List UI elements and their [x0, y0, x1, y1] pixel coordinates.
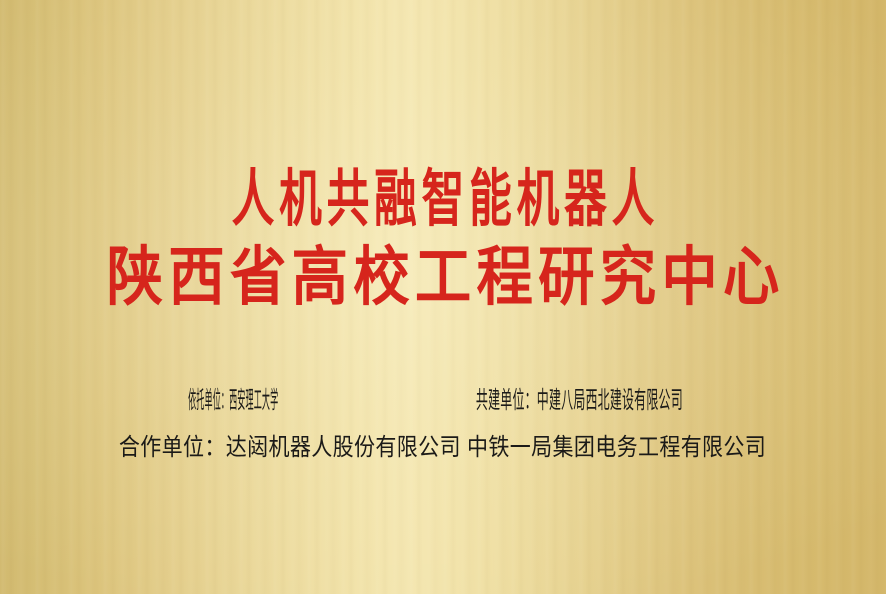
affiliation-list: 依托单位：西安理工大学 共建单位：中建八局西北建设有限公司 合作单位：达闼机器人…: [0, 366, 886, 460]
plaque-content: 人机共融智能机器人 陕西省高校工程研究中心 依托单位：西安理工大学 共建单位：中…: [0, 0, 886, 594]
affiliation-host-institution: 依托单位：西安理工大学: [188, 389, 278, 413]
affiliation-co-builder: 共建单位：中建八局西北建设有限公司: [476, 389, 683, 413]
plaque-background: 人机共融智能机器人 陕西省高校工程研究中心 依托单位：西安理工大学 共建单位：中…: [0, 0, 886, 594]
affiliation-partners: 合作单位：达闼机器人股份有限公司 中铁一局集团电务工程有限公司: [119, 436, 766, 460]
title-line-primary: 人机共融智能机器人: [227, 168, 659, 230]
plaque-title: 人机共融智能机器人 陕西省高校工程研究中心: [0, 168, 886, 310]
title-line-secondary: 陕西省高校工程研究中心: [101, 246, 784, 310]
